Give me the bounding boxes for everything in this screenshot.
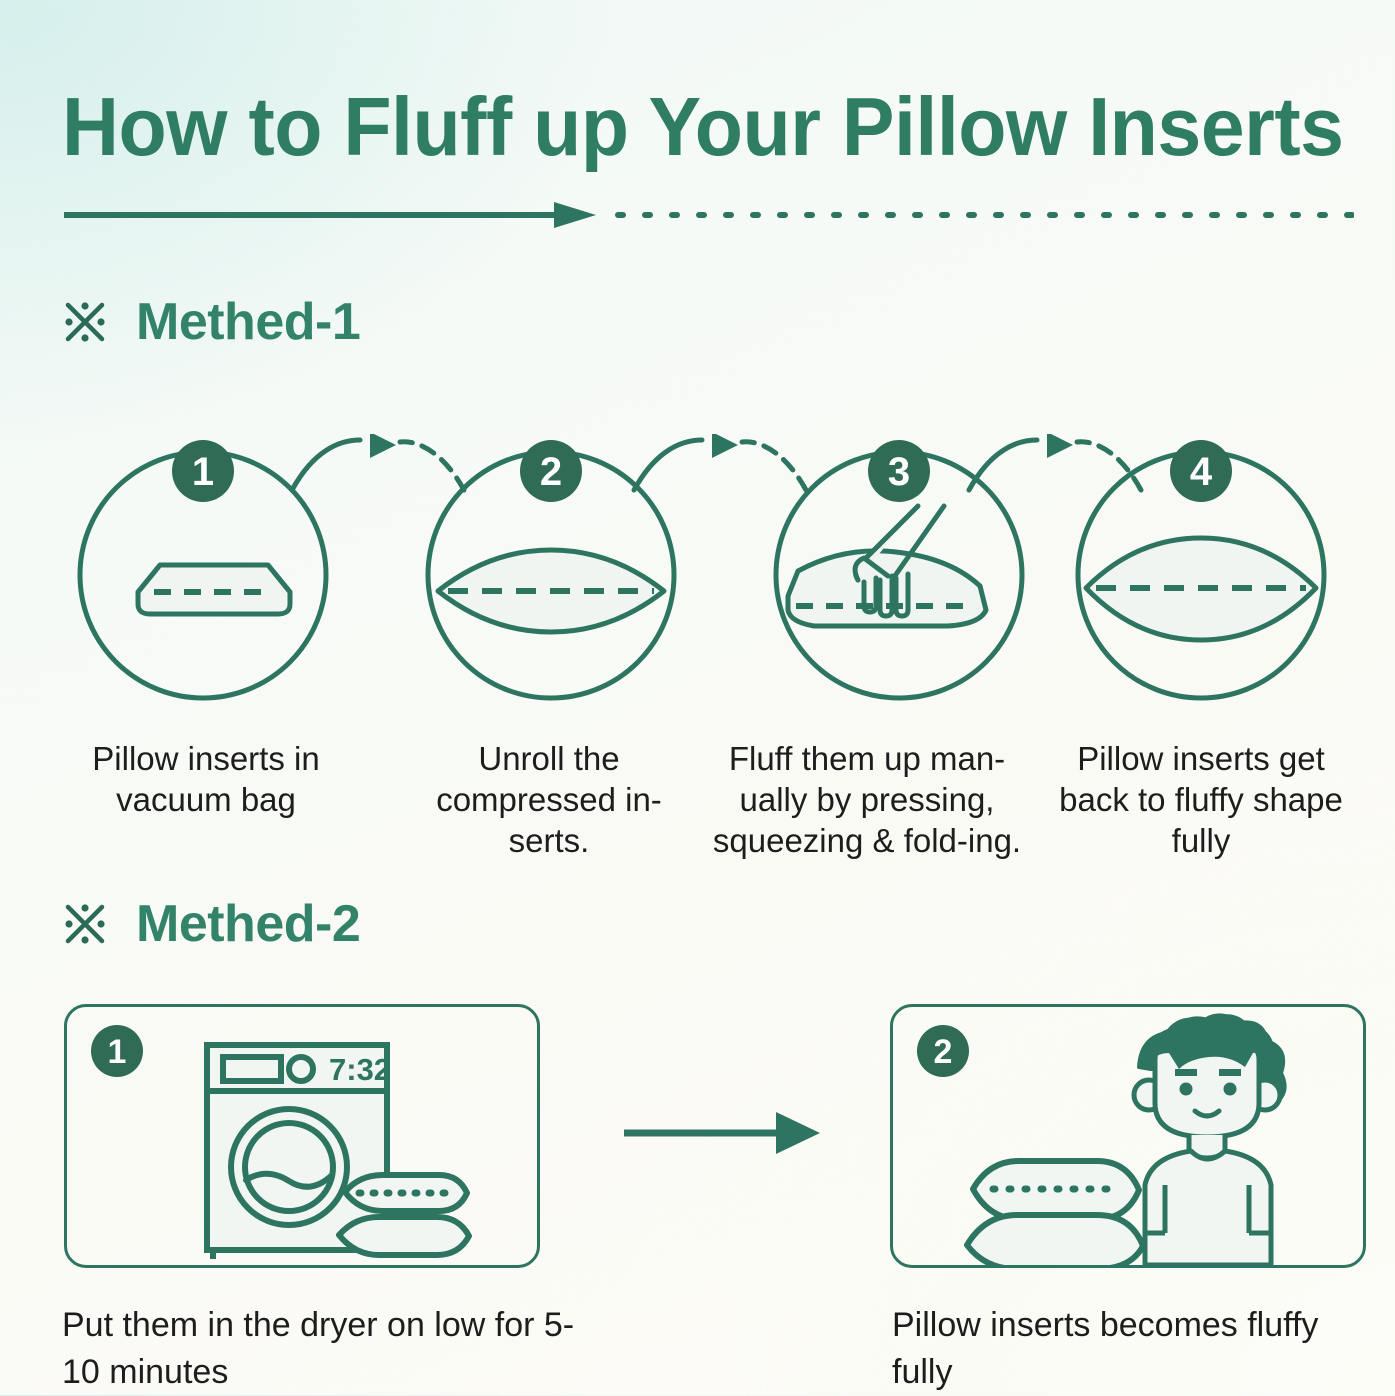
step-1-caption: Pillow inserts in vacuum bag xyxy=(62,738,350,820)
step-2: 2 xyxy=(420,440,682,702)
step-4-number: 4 xyxy=(1190,450,1213,494)
step-4: 4 xyxy=(1070,440,1332,702)
compressed-pillow-in-vacuum-bag-icon: 1 xyxy=(72,440,334,702)
reference-mark-icon xyxy=(60,899,110,949)
panel-2-caption: Pillow inserts becomes fluffy fully xyxy=(892,1302,1362,1396)
method-2-panel-1: 7:32 1 xyxy=(64,1004,540,1268)
method-1-label: Methed-1 xyxy=(136,296,360,348)
header-divider xyxy=(62,200,1354,230)
infographic-page: How to Fluff up Your Pillow Inserts xyxy=(0,0,1395,1395)
method-1-heading: Methed-1 xyxy=(60,296,360,348)
hand-pressing-pillow-icon: 3 xyxy=(768,440,1030,702)
method-2-label: Methed-2 xyxy=(136,898,360,950)
step-2-caption: Unroll the compressed in-serts. xyxy=(414,738,684,861)
method-1-steps: 1 2 xyxy=(0,398,1395,728)
method-2-heading: Methed-2 xyxy=(60,898,360,950)
dryer-machine-with-pillows-icon: 7:32 1 xyxy=(67,1007,537,1265)
page-title: How to Fluff up Your Pillow Inserts xyxy=(62,82,1288,172)
panel-1-number: 1 xyxy=(108,1033,127,1071)
fluffy-pillow-icon: 4 xyxy=(1070,440,1332,702)
arrow-right-icon xyxy=(600,1098,850,1168)
arrow-right-dotted-divider-icon xyxy=(62,200,1354,230)
step-2-number: 2 xyxy=(540,450,562,494)
person-with-fluffy-pillows-icon: 2 xyxy=(893,1007,1363,1265)
reference-mark-icon xyxy=(60,297,110,347)
step-3: 3 xyxy=(768,440,1030,702)
method-2-panel-2: 2 xyxy=(890,1004,1366,1268)
step-4-caption: Pillow inserts get back to fluffy shape … xyxy=(1048,738,1354,861)
step-1-number: 1 xyxy=(192,450,214,494)
step-3-number: 3 xyxy=(888,450,910,494)
method-2-flow-arrow xyxy=(600,1098,850,1168)
panel-1-caption: Put them in the dryer on low for 5-10 mi… xyxy=(62,1302,602,1396)
dryer-display-time: 7:32 xyxy=(329,1052,391,1087)
step-3-caption: Fluff them up man-ually by pressing, squ… xyxy=(706,738,1028,861)
panel-2-number: 2 xyxy=(934,1033,953,1071)
step-1: 1 xyxy=(72,440,334,702)
flat-unrolled-pillow-icon: 2 xyxy=(420,440,682,702)
